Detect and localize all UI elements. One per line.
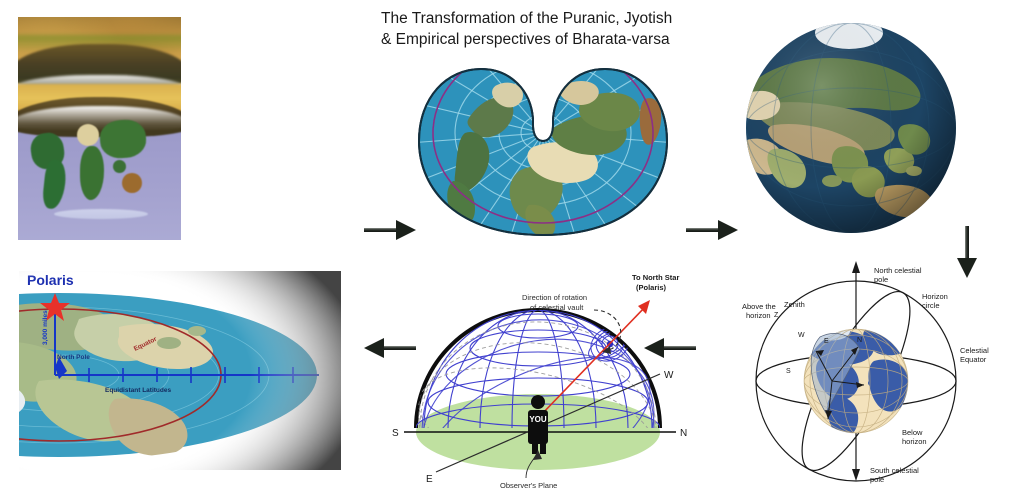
label-north: N: [680, 428, 687, 439]
label-distance: 3,000 miles: [42, 310, 49, 345]
arrow-shaft: [965, 226, 969, 262]
title-line-2: & Empirical perspectives of Bharata-vars…: [381, 29, 721, 50]
label-horizon-circle-line1: Horizon: [922, 292, 948, 301]
label-s: S: [786, 368, 791, 375]
label-north-pole: North Pole: [57, 354, 90, 361]
panel-puranic-landscape: [18, 17, 181, 240]
label-observers-plane: Observer's Plane: [500, 481, 557, 490]
continent-southeast-asia: [113, 160, 126, 173]
arrow-shaft: [364, 228, 400, 232]
label-horizon-circle-line2: circle: [922, 301, 940, 310]
label-n: N: [857, 337, 862, 344]
north-pole-arrowhead-icon: [852, 261, 860, 273]
label-z: Z: [774, 312, 779, 319]
label-w: W: [798, 332, 805, 339]
page-title: The Transformation of the Puranic, Jyoti…: [381, 8, 721, 50]
label-equidistant-latitudes: Equidistant Latitudes: [105, 387, 171, 394]
label-celestial-equator-line2: Equator: [960, 355, 987, 364]
label-south-celestial-pole-line1: South celestial: [870, 466, 919, 475]
arrow-shaft: [686, 228, 722, 232]
label-north-celestial-pole-line2: pole: [874, 275, 888, 284]
label-above-horizon-line2: horizon: [746, 311, 771, 320]
panel-satellite-globe: [744, 21, 958, 235]
arrow-shaft: [380, 346, 416, 350]
label-celestial-equator-line1: Celestial: [960, 346, 989, 355]
slide-canvas: The Transformation of the Puranic, Jyoti…: [0, 0, 1024, 499]
label-to-north-star-line1: To North Star: [632, 273, 679, 282]
label-to-north-star-line2: (Polaris): [636, 283, 667, 292]
puranic-snow-lower: [18, 106, 181, 131]
label-south: S: [392, 428, 399, 439]
label-below-horizon-line1: Below: [902, 428, 923, 437]
label-north-celestial-pole-line1: North celestial: [874, 266, 922, 275]
globe-shading: [746, 23, 956, 233]
label-south-celestial-pole-line2: pole: [870, 475, 884, 484]
panel-fan-projection: [413, 63, 673, 239]
label-west: W: [664, 370, 674, 381]
label-above-horizon-line1: Above the: [742, 302, 776, 311]
arrow-head-right-icon: [718, 220, 738, 240]
arrow-dome-to-flat-earth: [360, 336, 416, 360]
label-polaris: Polaris: [27, 272, 74, 288]
antarctic-ice-strip: [54, 209, 149, 219]
title-line-1: The Transformation of the Puranic, Jyoti…: [381, 8, 721, 29]
south-pole-arrowhead-icon: [852, 469, 860, 481]
panel-flat-earth-polaris: Polaris 3,000 miles North Pole Equator E…: [19, 271, 341, 470]
label-rotation-line1: Direction of rotation: [522, 293, 587, 302]
label-rotation-line2: of celestial vault: [530, 303, 584, 312]
label-east: E: [426, 474, 433, 485]
label-below-horizon-line2: horizon: [902, 437, 927, 446]
continent-australia: [122, 173, 142, 193]
arrow-puranic-to-fan: [364, 218, 420, 242]
arrow-fan-to-globe: [686, 218, 742, 242]
panel-celestial-dome: YOU To North Star (Polaris) Direction of…: [388, 266, 718, 494]
label-you: YOU: [529, 415, 547, 424]
arrow-head-left-icon: [364, 338, 384, 358]
panel-celestial-sphere: North celestial pole South celestial pol…: [724, 263, 1014, 495]
label-e: E: [824, 338, 829, 345]
continent-asia: [98, 118, 146, 159]
label-zenith: Zenith: [784, 300, 805, 309]
